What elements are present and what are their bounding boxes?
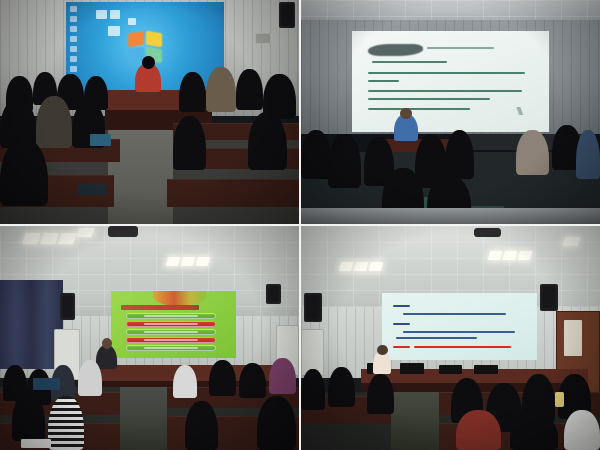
audience-member xyxy=(367,374,394,414)
photo-panel-bottom-left xyxy=(0,226,299,450)
audience-member xyxy=(516,130,549,175)
audience-member xyxy=(257,396,296,450)
ceiling-light xyxy=(339,262,354,271)
photo-panel-bottom-right xyxy=(301,226,600,450)
list-item-1-label xyxy=(144,315,198,317)
ceiling-projector xyxy=(474,228,501,237)
wall-speaker-icon xyxy=(60,293,75,320)
door-window xyxy=(564,320,582,356)
wall-speaker-icon xyxy=(304,293,322,322)
audience-member xyxy=(301,369,325,409)
ceiling-light xyxy=(368,262,383,271)
wall-speaker-icon xyxy=(279,2,295,28)
audience-member xyxy=(173,116,206,170)
slide-title xyxy=(121,305,199,310)
center-aisle xyxy=(391,392,439,450)
audience-member xyxy=(206,67,236,112)
audience-member xyxy=(239,363,266,399)
ceiling-light xyxy=(76,228,94,237)
list-item-3-label xyxy=(144,331,198,333)
photo-panel-top-right xyxy=(301,0,600,224)
paragraph-1-line xyxy=(403,313,506,315)
desk-monitor xyxy=(474,365,498,374)
paragraph-2-line xyxy=(396,337,477,339)
audience-member xyxy=(301,130,331,179)
audience-member xyxy=(48,396,84,450)
audience-member xyxy=(328,367,355,407)
ink-brush-decoration xyxy=(368,44,423,55)
paragraph-3-label xyxy=(393,346,410,348)
audience-member xyxy=(12,392,45,441)
audience-member xyxy=(576,130,600,179)
audience-member xyxy=(328,134,361,188)
list-item-4 xyxy=(126,337,216,343)
photo-collage xyxy=(0,0,600,450)
desk-paper xyxy=(21,439,51,448)
audience-member xyxy=(248,112,287,170)
ceiling xyxy=(301,0,600,20)
ceiling-light xyxy=(354,262,369,271)
audience-member xyxy=(0,139,48,206)
audience-member xyxy=(78,360,102,396)
desk-monitor xyxy=(439,365,463,374)
paragraph-1-label xyxy=(393,305,410,307)
list-item-5 xyxy=(126,345,216,351)
audience-member xyxy=(269,358,296,394)
desk-monitor xyxy=(400,363,424,374)
projection-screen-text-slide xyxy=(352,31,549,132)
paragraph-2-line xyxy=(403,331,515,333)
audience-member xyxy=(564,410,600,450)
paragraph-3-line xyxy=(414,346,510,348)
wall-panel-box xyxy=(255,33,271,44)
list-item-1 xyxy=(126,313,216,319)
audience-member xyxy=(36,96,72,148)
projection-screen-qa-slide xyxy=(382,293,537,360)
desk-monitor xyxy=(33,378,60,389)
presenter-head xyxy=(377,345,387,355)
list-item-5-label xyxy=(144,347,198,349)
list-item-4-label xyxy=(144,339,198,341)
ceiling-light xyxy=(563,237,581,246)
presenter-head xyxy=(400,108,412,119)
wall-speaker-icon xyxy=(266,284,281,304)
screen-frame xyxy=(382,293,537,360)
wall-speaker-icon xyxy=(540,284,558,311)
audience-member xyxy=(510,414,558,450)
ceiling-tile-grid xyxy=(301,0,600,20)
ceiling-projector xyxy=(108,226,138,237)
water-bottle xyxy=(555,392,564,408)
photo-panel-top-left xyxy=(0,0,299,224)
audience-member xyxy=(236,69,263,109)
list-item-3 xyxy=(126,329,216,335)
audience-member xyxy=(209,360,236,396)
desk-monitor xyxy=(78,184,105,195)
list-item-2-label xyxy=(144,323,198,325)
desk-monitor xyxy=(90,134,111,145)
foreground-ledge xyxy=(301,208,600,224)
list-item-2 xyxy=(126,321,216,327)
center-aisle xyxy=(120,387,168,450)
bench-row xyxy=(167,179,299,207)
projection-screen-list-slide xyxy=(111,291,237,358)
